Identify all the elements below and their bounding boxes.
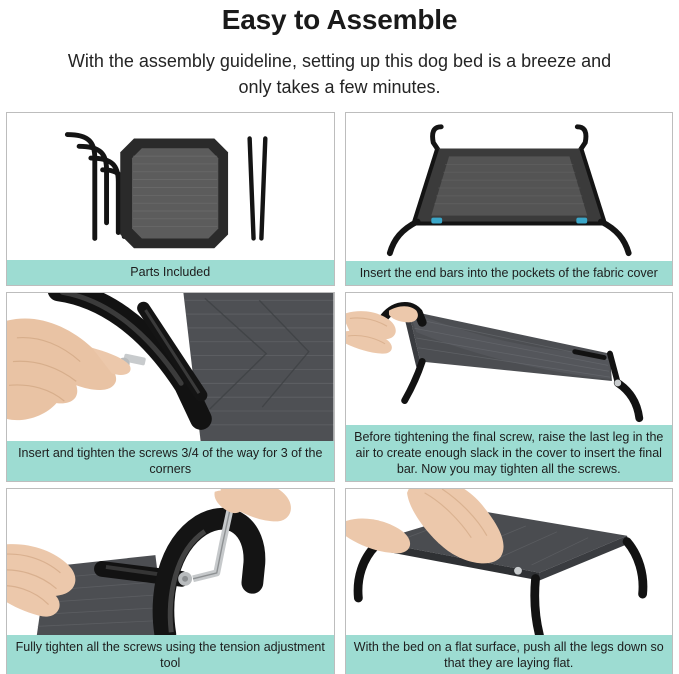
page-header: Easy to Assemble With the assembly guide… — [0, 0, 679, 100]
step-panel-parts-included: Parts Included — [6, 112, 335, 286]
assembly-instructions-page: Easy to Assemble With the assembly guide… — [0, 0, 679, 674]
step-panel-flatten-legs: With the bed on a flat surface, push all… — [345, 488, 674, 674]
page-title: Easy to Assemble — [0, 2, 679, 38]
step-caption: With the bed on a flat surface, push all… — [346, 635, 673, 674]
assembly-steps-grid: Parts Included — [6, 112, 673, 670]
step-panel-insert-end-bars: Insert the end bars into the pockets of … — [345, 112, 674, 286]
press-down-icon — [346, 489, 673, 635]
step-caption: Fully tighten all the screws using the t… — [7, 635, 334, 674]
step-caption: Before tightening the final screw, raise… — [346, 425, 673, 481]
parts-layout-icon — [7, 113, 334, 260]
step-caption: Insert the end bars into the pockets of … — [346, 261, 673, 285]
step-panel-insert-tighten-screws: Insert and tighten the screws 3/4 of the… — [6, 292, 335, 482]
step-panel-raise-last-leg: Before tightening the final screw, raise… — [345, 292, 674, 482]
hand-screw-icon — [7, 293, 334, 441]
page-subtitle: With the assembly guideline, setting up … — [0, 48, 679, 100]
step-caption: Parts Included — [7, 260, 334, 285]
step-panel-tension-tool: Fully tighten all the screws using the t… — [6, 488, 335, 674]
bed-frame-icon — [346, 113, 673, 261]
step-caption: Insert and tighten the screws 3/4 of the… — [7, 441, 334, 481]
lift-leg-icon — [346, 293, 673, 425]
wrench-tool-icon — [7, 489, 334, 635]
